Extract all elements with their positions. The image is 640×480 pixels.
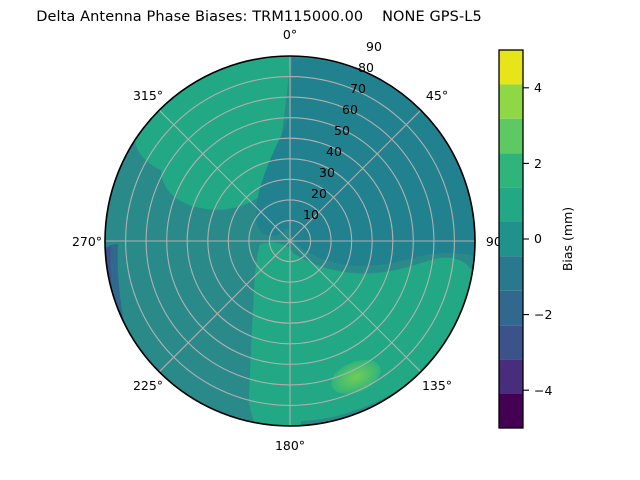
colorbar-cell-9 — [499, 84, 523, 118]
colorbar-cell-3 — [499, 291, 523, 325]
colorbar-cell-7 — [499, 153, 523, 187]
colorbar-tick-neg2: −2 — [534, 307, 552, 322]
colorbar-tick-neg4: −4 — [534, 383, 552, 398]
colorbar-cell-8 — [499, 119, 523, 153]
colorbar-cell-5 — [499, 222, 523, 256]
colorbar-cell-4 — [499, 256, 523, 290]
colorbar-tickmarks — [523, 88, 529, 390]
colorbar-cell-10 — [499, 50, 523, 84]
colorbar-cell-0 — [499, 394, 523, 428]
figure-canvas: Delta Antenna Phase Biases: TRM115000.00… — [0, 0, 640, 480]
colorbar-cell-1 — [499, 360, 523, 394]
colorbar-cell-6 — [499, 188, 523, 222]
colorbar-cells — [499, 50, 523, 428]
colorbar-tick-4: 4 — [534, 80, 542, 95]
colorbar[interactable]: 4 2 0 −2 −4 Bias (mm) — [0, 0, 640, 480]
colorbar-tick-2: 2 — [534, 156, 542, 171]
colorbar-tick-0: 0 — [534, 231, 542, 246]
colorbar-cell-2 — [499, 325, 523, 359]
colorbar-axis-label: Bias (mm) — [560, 207, 575, 271]
